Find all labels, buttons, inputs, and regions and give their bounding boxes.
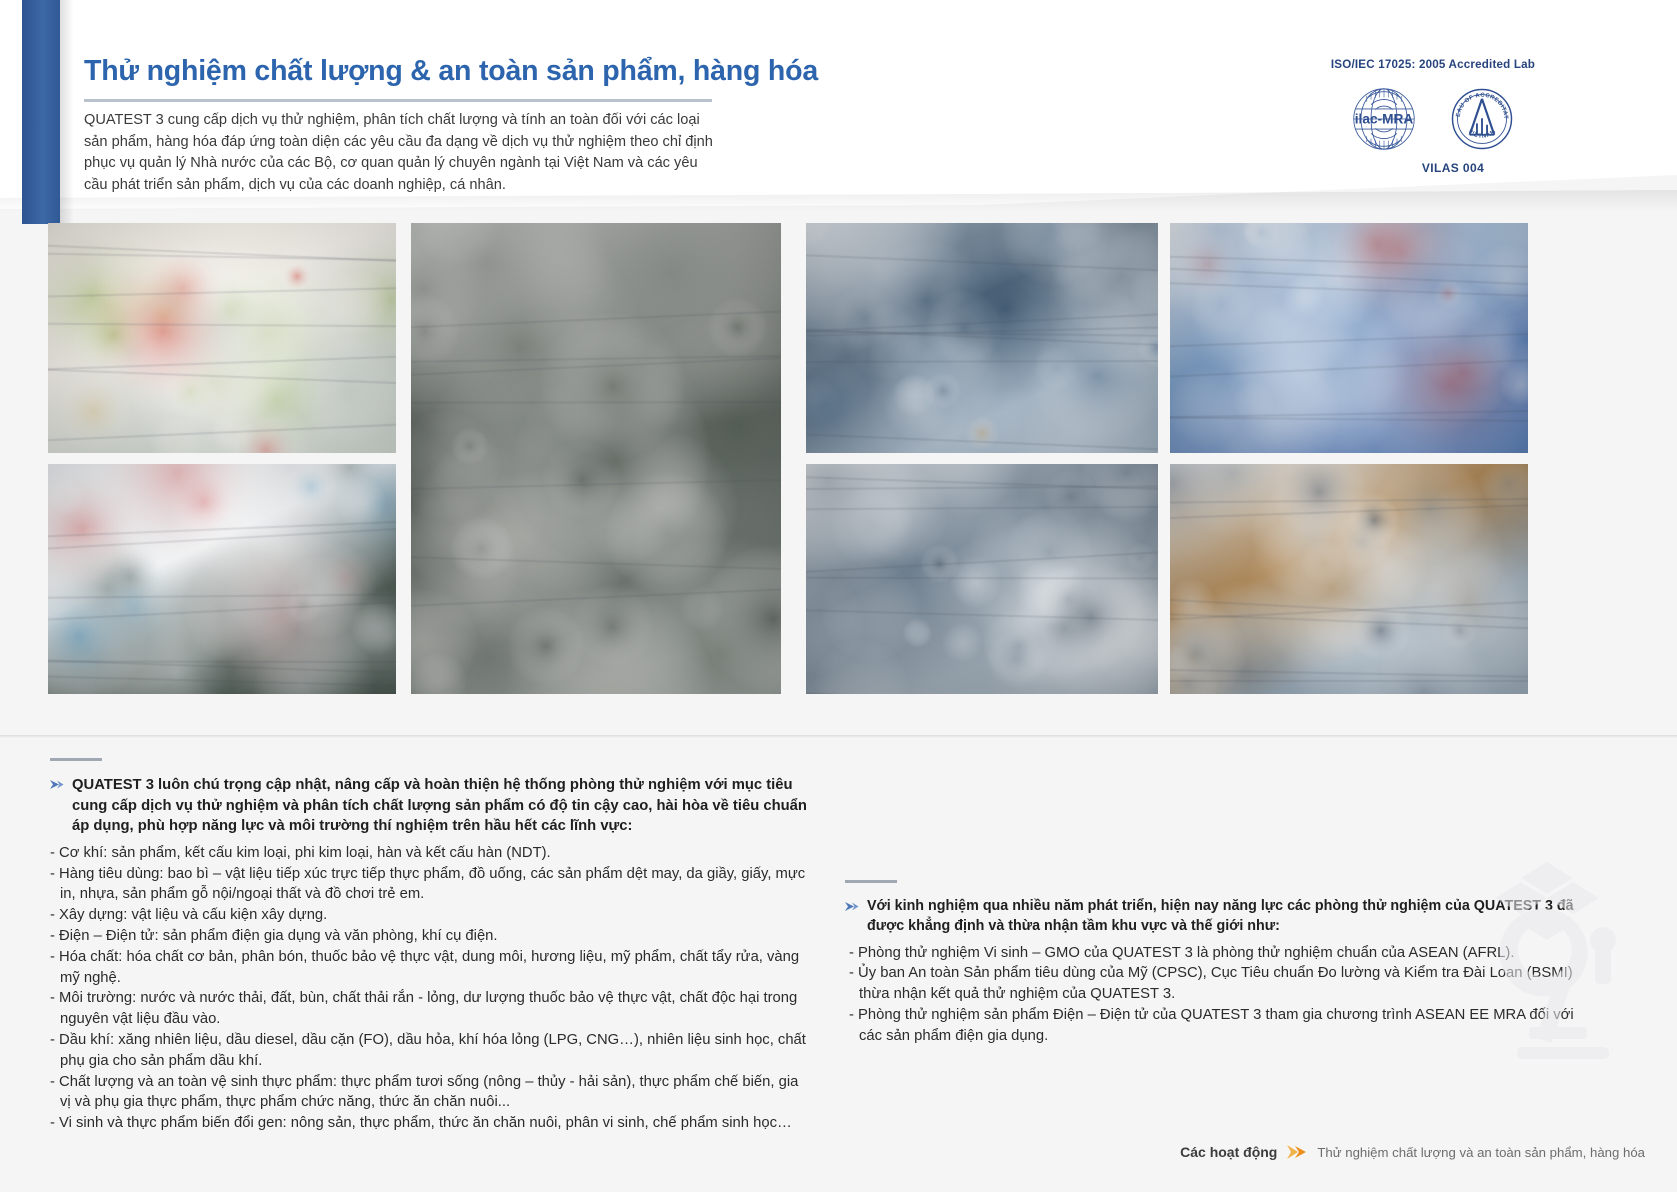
photo-gallery [0, 209, 1677, 719]
list-item: - Cơ khí: sản phẩm, kết cấu kim loại, ph… [50, 843, 810, 864]
ilac-mra-logo-icon: ilac-MRA [1348, 83, 1420, 155]
photo-male-technician-analyzer [806, 464, 1158, 694]
accreditation-block: ISO/IEC 17025: 2005 Accredited Lab [1318, 58, 1548, 175]
footer-label: Các hoạt động [1180, 1144, 1277, 1160]
list-item: - Điện – Điện tử: sản phẩm điện gia dụng… [50, 926, 810, 947]
list-item: - Xây dựng: vật liệu và cấu kiện xây dựn… [50, 905, 810, 926]
accreditation-title: ISO/IEC 17025: 2005 Accredited Lab [1318, 58, 1548, 71]
page-title: Thử nghiệm chất lượng & an toàn sản phẩm… [84, 55, 818, 88]
list-item: - Hàng tiêu dùng: bao bì – vật liệu tiếp… [50, 864, 810, 906]
right-column-tick-rule [845, 880, 897, 883]
photo-technician-electronics-testing [1170, 464, 1528, 694]
photo-textile-color-test-panel [48, 464, 396, 694]
footer-text: Thử nghiệm chất lượng và an toàn sản phẩ… [1317, 1145, 1645, 1160]
microscope-watermark-icon [1397, 822, 1677, 1122]
photo-technician-distillation-apparatus [411, 223, 781, 694]
list-item: - Môi trường: nước và nước thải, đất, bù… [50, 988, 810, 1030]
page-root: Thử nghiệm chất lượng & an toàn sản phẩm… [0, 0, 1677, 1192]
left-blue-accent-bar [22, 0, 60, 224]
bullet-arrow-icon [845, 901, 859, 912]
left-content-column: QUATEST 3 luôn chú trọng cập nhật, nâng … [50, 758, 810, 1134]
section-divider [0, 735, 1677, 738]
ilac-mra-logo-label: ilac-MRA [1355, 111, 1414, 126]
left-column-tick-rule [50, 758, 102, 761]
boa-vietnam-logo-icon: BUREAU OF ACCREDITATION VIETNAM [1446, 83, 1518, 155]
list-item: - Hóa chất: hóa chất cơ bản, phân bón, t… [50, 947, 810, 989]
left-lead-paragraph: QUATEST 3 luôn chú trọng cập nhật, nâng … [72, 775, 810, 837]
left-bullet-list: - Cơ khí: sản phẩm, kết cấu kim loại, ph… [50, 843, 810, 1134]
left-blue-accent-bar-shadow [60, 0, 74, 224]
intro-paragraph: QUATEST 3 cung cấp dịch vụ thử nghiệm, p… [84, 110, 724, 196]
vilas-code: VILAS 004 [1358, 161, 1548, 175]
bullet-arrow-icon [50, 779, 64, 790]
list-item: - Chất lượng và an toàn vệ sinh thực phẩ… [50, 1072, 810, 1114]
accreditation-logos: ilac-MRA BUREAU OF ACCREDITATION VIETNAM [1318, 83, 1548, 155]
list-item: - Dầu khí: xăng nhiên liệu, dầu diesel, … [50, 1030, 810, 1072]
photo-food-inspection-clipboard [48, 223, 396, 453]
title-underline-rule [84, 99, 712, 102]
footer-arrow-icon [1286, 1144, 1308, 1160]
footer: Các hoạt động Thử nghiệm chất lượng và a… [0, 1130, 1677, 1192]
photo-female-analyst-instrument [806, 223, 1158, 453]
photo-petri-dish-swab-gloves [1170, 223, 1528, 453]
